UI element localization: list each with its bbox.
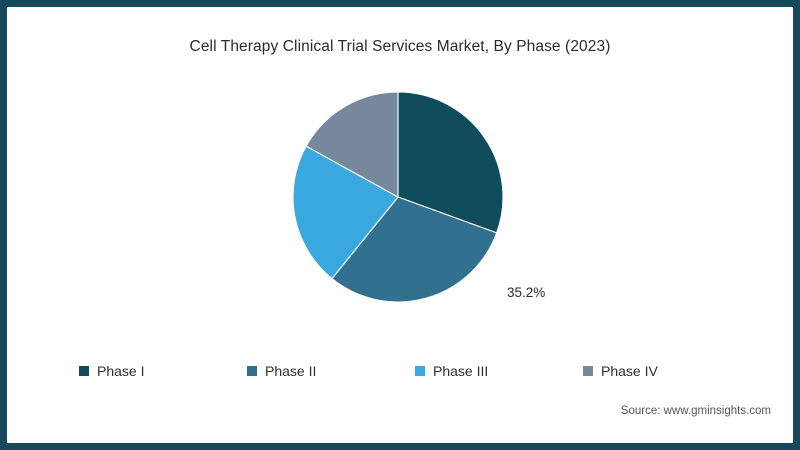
legend-swatch-icon [79,366,89,376]
chart-canvas: Cell Therapy Clinical Trial Services Mar… [7,7,793,443]
pie-slice-group: Phase I: 30.5%Phase II: 35.2%Phase III: … [293,92,503,302]
pie-chart-svg: Phase I: 30.5%Phase II: 35.2%Phase III: … [292,91,504,303]
source-attribution: Source: www.gminsights.com [621,405,771,417]
legend-swatch-icon [415,366,425,376]
legend-item-label: Phase IV [601,363,658,379]
chart-figure: Cell Therapy Clinical Trial Services Mar… [0,0,800,450]
pie-chart: Phase I: 30.5%Phase II: 35.2%Phase III: … [292,91,504,303]
legend-item-label: Phase III [433,363,488,379]
legend-swatch-icon [583,366,593,376]
legend-item-label: Phase II [265,363,316,379]
legend-item-phase-iv[interactable]: Phase IV [575,363,743,379]
legend-item-phase-i[interactable]: Phase I [71,363,239,379]
pie-data-label-phase-ii: 35.2% [507,285,545,300]
legend-item-phase-iii[interactable]: Phase III [407,363,575,379]
legend-item-phase-ii[interactable]: Phase II [239,363,407,379]
legend-item-label: Phase I [97,363,144,379]
chart-legend: Phase IPhase IIPhase IIIPhase IV [7,363,800,379]
page-title: Cell Therapy Clinical Trial Services Mar… [7,38,793,56]
legend-swatch-icon [247,366,257,376]
